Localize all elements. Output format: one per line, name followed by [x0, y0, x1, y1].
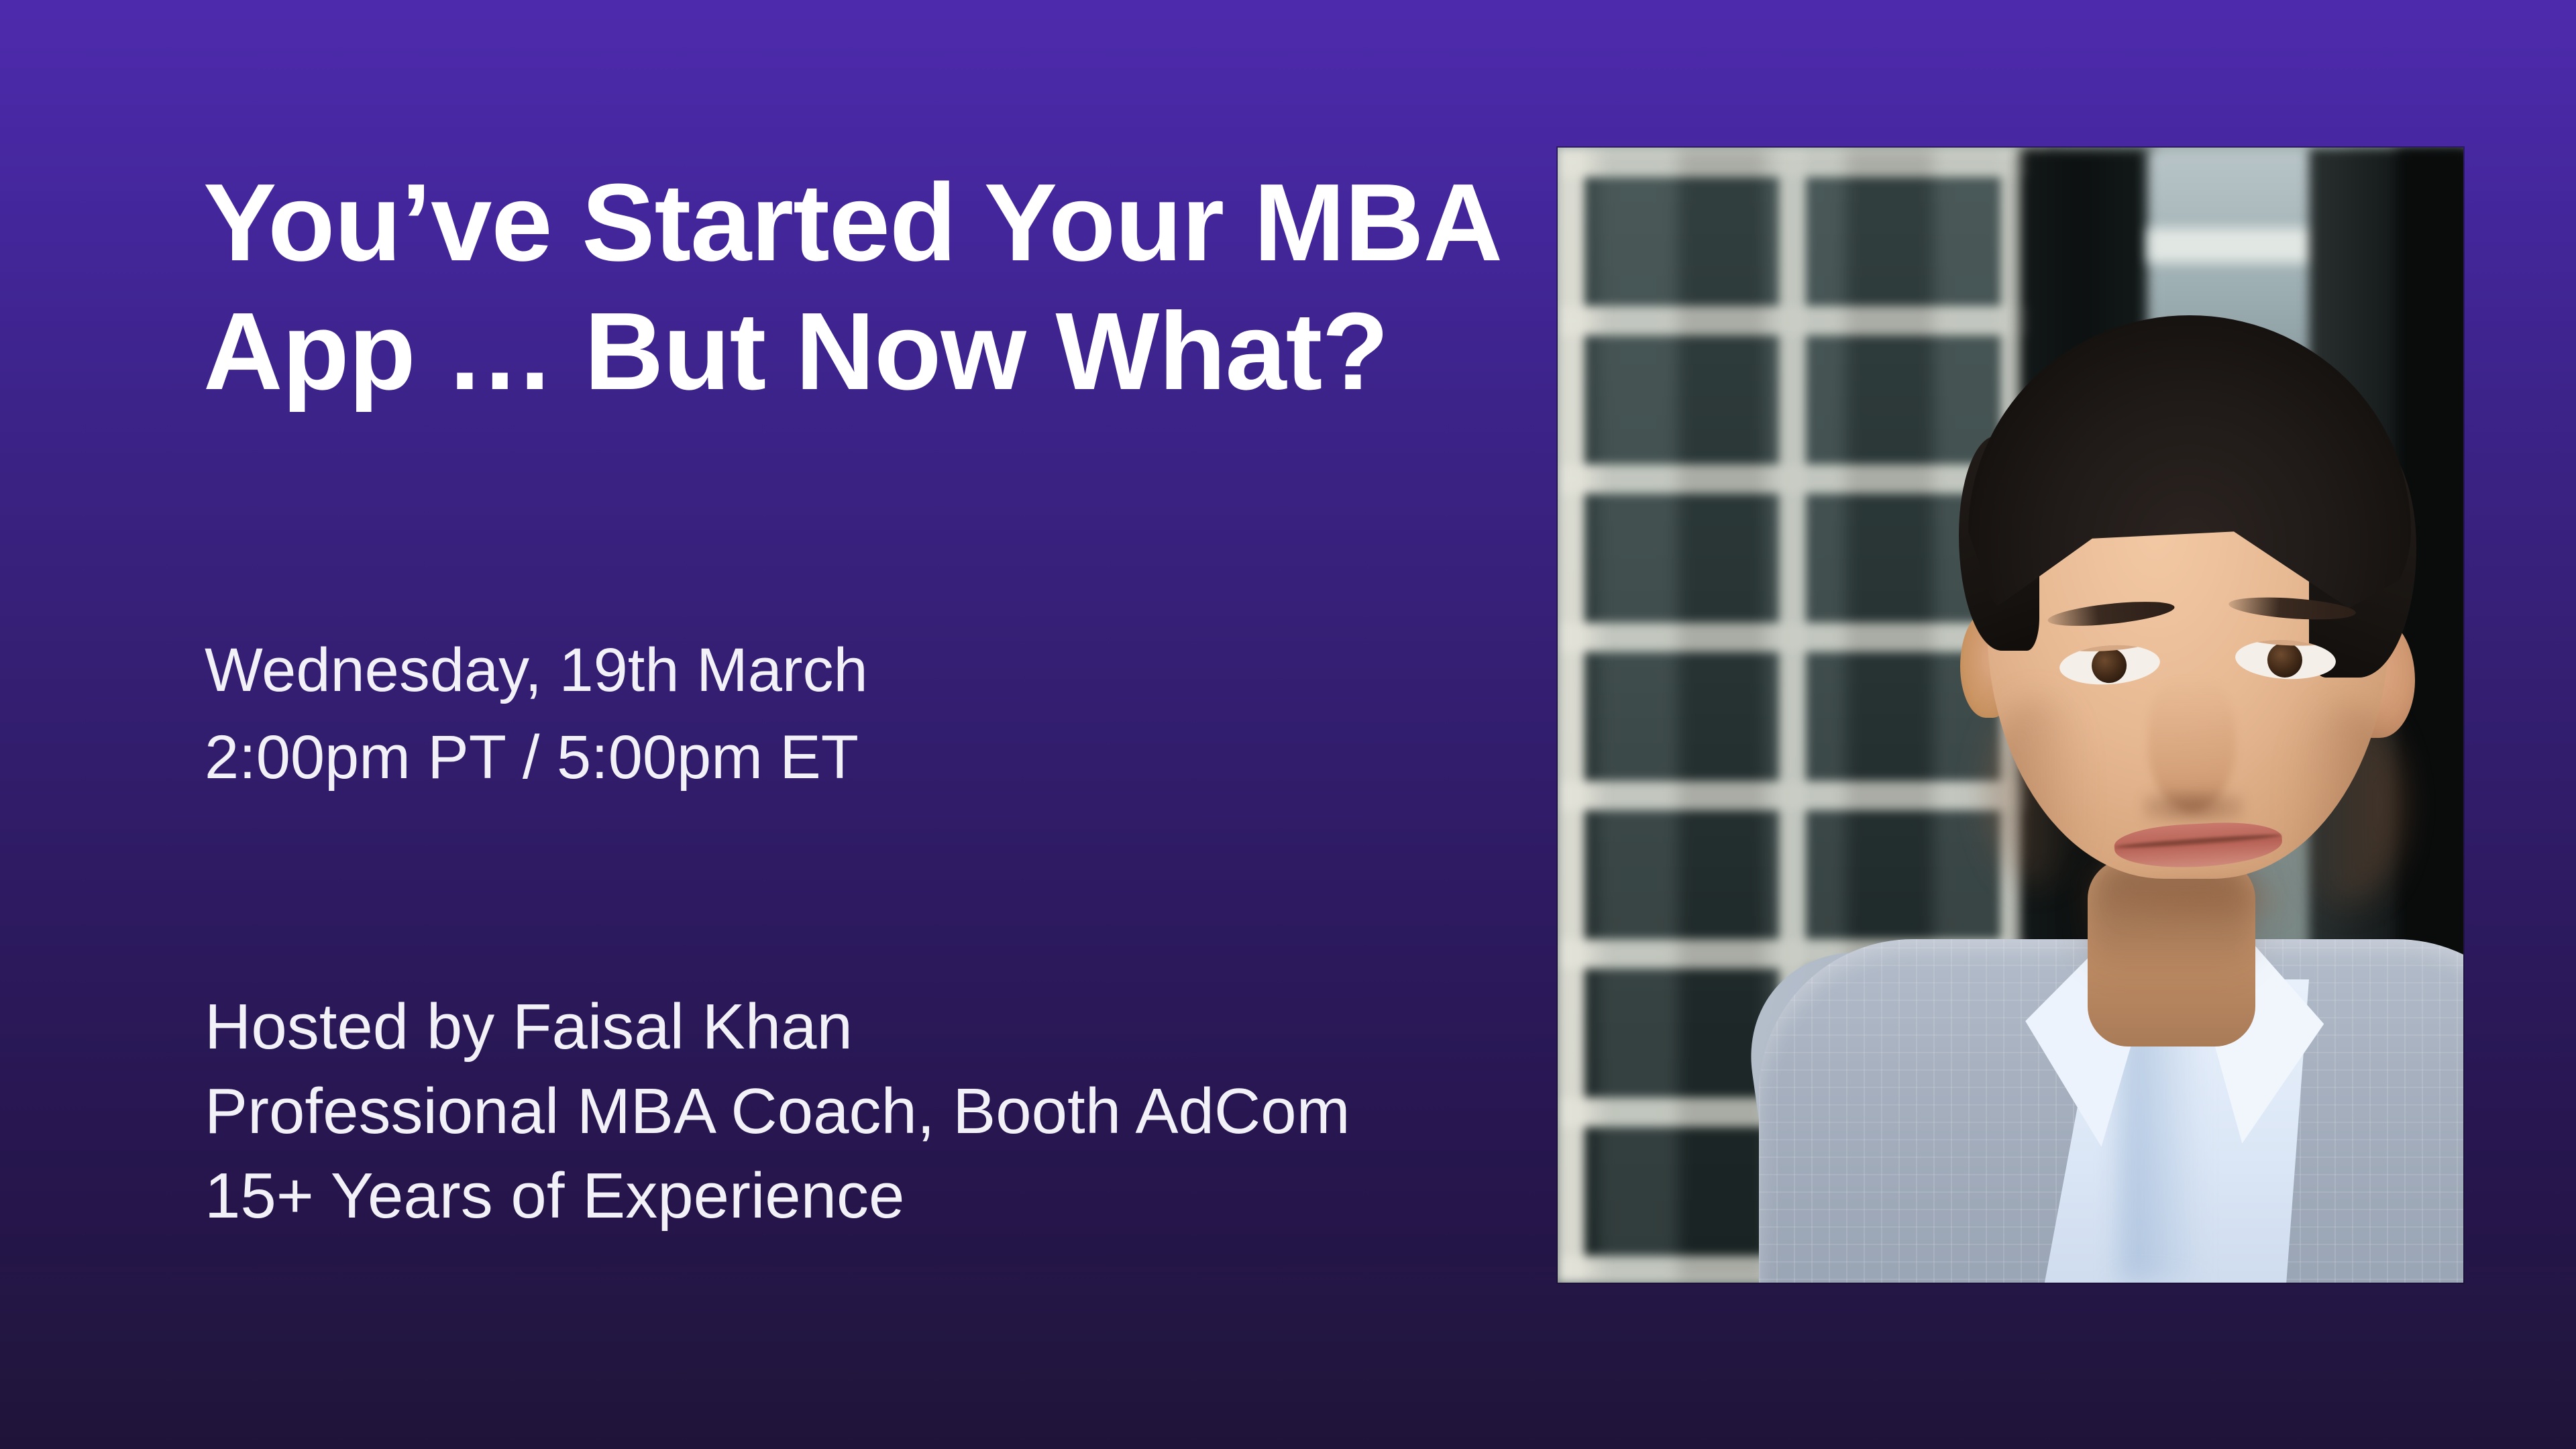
nose-shadow: [2143, 792, 2243, 822]
page-title: You’ve Started Your MBA App … But Now Wh…: [203, 158, 1518, 416]
host-experience: 15+ Years of Experience: [205, 1154, 1412, 1238]
webinar-promo-slide: You’ve Started Your MBA App … But Now Wh…: [0, 0, 2576, 1449]
event-time: 2:00pm PT / 5:00pm ET: [205, 714, 1345, 801]
text-column: You’ve Started Your MBA App … But Now Wh…: [203, 0, 1518, 1449]
host-info-block: Hosted by Faisal Khan Professional MBA C…: [205, 985, 1412, 1238]
host-name: Hosted by Faisal Khan: [205, 985, 1412, 1069]
chin-shadow: [2120, 879, 2281, 919]
iris-right: [2267, 642, 2304, 679]
portrait-subject: [1558, 148, 2463, 1283]
cheek-shadow-right: [2289, 704, 2403, 906]
host-portrait-photo: [1558, 148, 2463, 1283]
iris-left: [2090, 647, 2128, 684]
event-datetime-block: Wednesday, 19th March 2:00pm PT / 5:00pm…: [205, 627, 1345, 801]
cheek-shadow-left: [1987, 698, 2088, 885]
event-date: Wednesday, 19th March: [205, 627, 1345, 714]
host-title: Professional MBA Coach, Booth AdCom: [205, 1069, 1412, 1154]
